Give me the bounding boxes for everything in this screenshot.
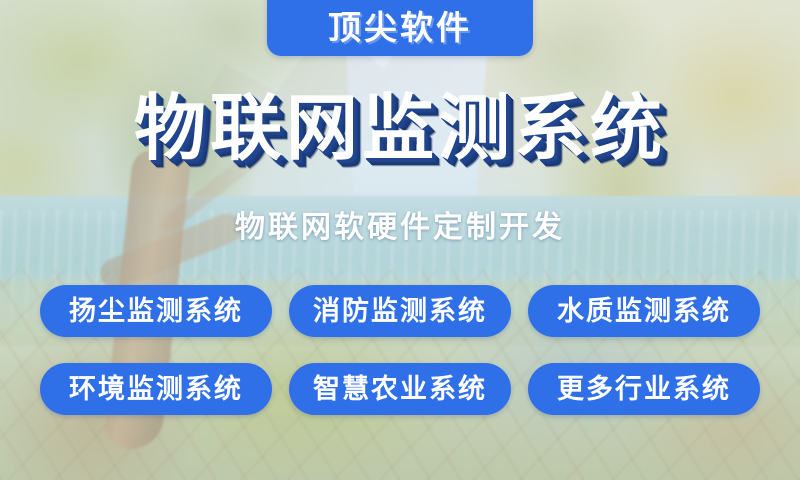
brand-badge-label: 顶尖软件 xyxy=(328,7,472,44)
tag-label: 智慧农业系统 xyxy=(313,376,487,403)
banner-content: 顶尖软件 物联网监测系统 物联网软硬件定制开发 扬尘监测系统 消防监测系统 水质… xyxy=(0,0,800,480)
tag-label: 环境监测系统 xyxy=(69,376,243,403)
service-tag-grid: 扬尘监测系统 消防监测系统 水质监测系统 环境监测系统 智慧农业系统 更多行业系… xyxy=(40,285,760,415)
tag-more-industries[interactable]: 更多行业系统 xyxy=(528,363,760,415)
page-subtitle: 物联网软硬件定制开发 xyxy=(0,210,800,246)
tag-label: 水质监测系统 xyxy=(557,298,731,325)
brand-badge: 顶尖软件 xyxy=(267,0,533,56)
promo-banner: 顶尖软件 物联网监测系统 物联网软硬件定制开发 扬尘监测系统 消防监测系统 水质… xyxy=(0,0,800,480)
tag-label: 扬尘监测系统 xyxy=(69,298,243,325)
tag-environment-monitoring[interactable]: 环境监测系统 xyxy=(40,363,272,415)
tag-water-quality-monitoring[interactable]: 水质监测系统 xyxy=(528,285,760,337)
tag-fire-monitoring[interactable]: 消防监测系统 xyxy=(289,285,511,337)
tag-label: 消防监测系统 xyxy=(313,298,487,325)
tag-smart-agriculture[interactable]: 智慧农业系统 xyxy=(289,363,511,415)
tag-label: 更多行业系统 xyxy=(557,376,731,403)
tag-dust-monitoring[interactable]: 扬尘监测系统 xyxy=(40,285,272,337)
page-title: 物联网监测系统 xyxy=(0,92,800,164)
